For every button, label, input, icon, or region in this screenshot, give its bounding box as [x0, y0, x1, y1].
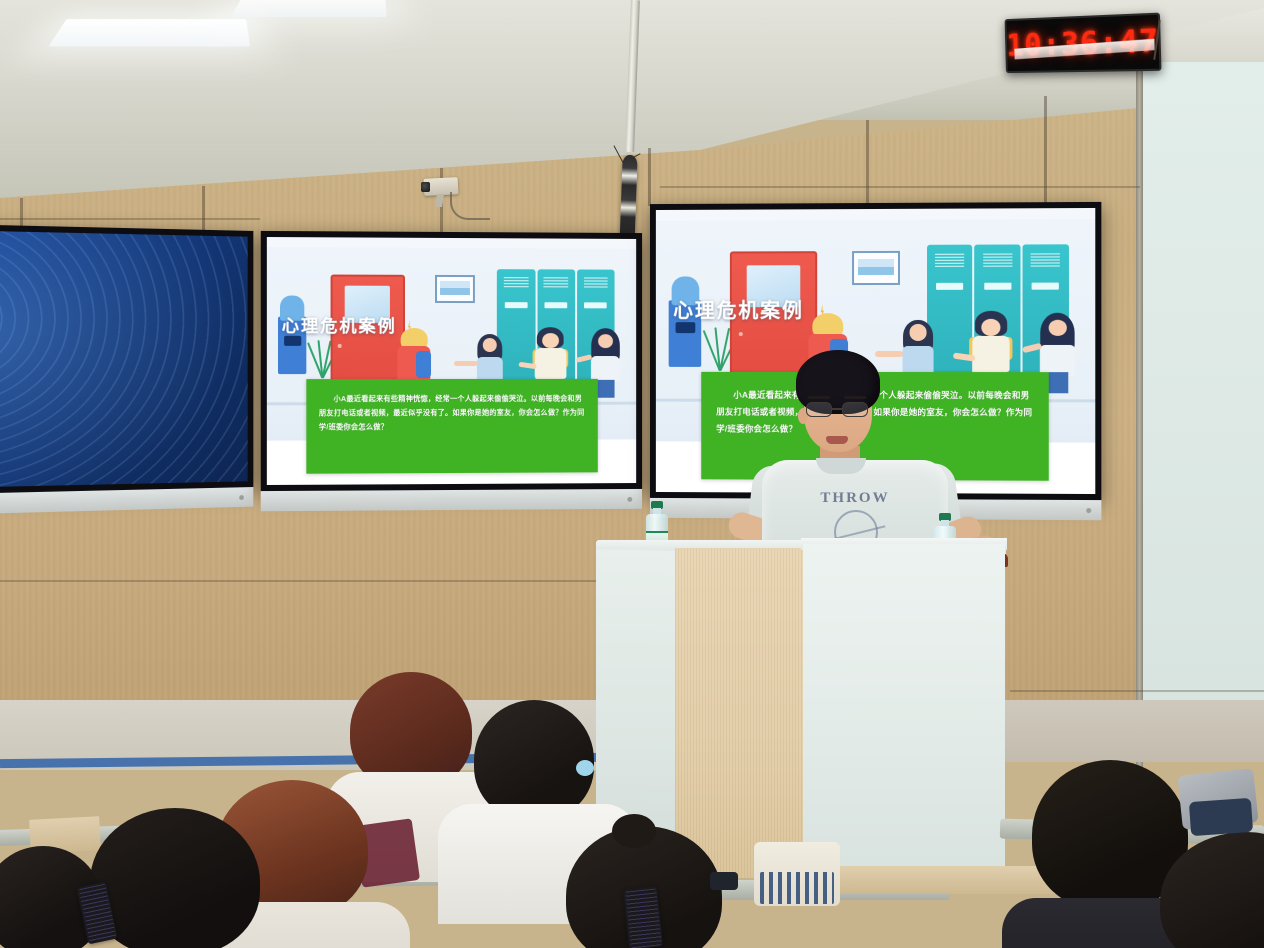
speaker-mouth	[826, 436, 848, 444]
tshirt-print-text: THROW	[800, 490, 910, 507]
presentation-slide: 心理危机案例 小A最近看起来有些精神恍惚，经常一个人躲起来偷偷哭泣。以前每晚会和…	[267, 237, 636, 485]
wall-seam	[0, 218, 260, 220]
hair-bun	[612, 814, 656, 848]
bezel-brand-label	[0, 503, 17, 504]
camera-lens-icon	[421, 182, 430, 192]
student-far-right	[1160, 832, 1264, 948]
display-bezel	[261, 489, 642, 511]
earbud-icon	[576, 760, 594, 776]
ceiling-light-panel-icon	[48, 19, 250, 46]
classroom-scene: 10:36:47	[0, 0, 1264, 948]
phone-on-desk[interactable]	[710, 872, 738, 890]
jacket-on-desk	[1189, 798, 1253, 836]
camera-cable	[450, 192, 490, 220]
ceiling-light-panel-2-icon	[231, 0, 387, 17]
standby-display[interactable]	[0, 225, 253, 493]
slide-display-left[interactable]: 心理危机案例 小A最近看起来有些精神恍惚，经常一个人躲起来偷偷哭泣。以前每晚会和…	[261, 231, 642, 491]
slide-case-text: 小A最近看起来有些精神恍惚，经常一个人躲起来偷偷哭泣。以前每晚会和男朋友打电话或…	[319, 392, 586, 435]
wall-corner-edge	[1136, 70, 1143, 770]
blue-wave-wallpaper	[0, 231, 248, 487]
potted-plant-icon	[708, 327, 730, 371]
wall-seam	[1010, 690, 1264, 692]
eyeglasses-icon	[804, 402, 872, 417]
wall-seam	[866, 120, 869, 206]
backpack-icon	[416, 351, 431, 379]
potted-plant-icon	[312, 340, 331, 379]
bag-print	[760, 872, 834, 904]
wall-seam	[660, 186, 1140, 188]
bezel-indicator-icon	[1086, 508, 1091, 513]
door-knob-icon	[738, 332, 742, 336]
bezel-indicator-icon	[239, 495, 244, 500]
side-wall-white	[1142, 62, 1264, 762]
lectern-panel-right	[803, 544, 1005, 880]
standby-screen	[0, 231, 248, 487]
wall-picture-icon	[435, 275, 476, 304]
smartphone[interactable]	[623, 886, 663, 948]
door-knob-icon	[338, 344, 342, 348]
phone-screen	[625, 888, 662, 948]
water-cooler-tap-icon	[676, 322, 696, 333]
speaker-eyebrow	[844, 396, 866, 399]
tote-bag	[754, 842, 840, 906]
wall-seam	[0, 580, 600, 582]
wall-picture-icon	[852, 251, 900, 284]
wall-seam	[1044, 96, 1047, 212]
slide-screen-left: 心理危机案例 小A最近看起来有些精神恍惚，经常一个人躲起来偷偷哭泣。以前每晚会和…	[267, 237, 636, 485]
water-cooler-tap-icon	[284, 336, 301, 346]
slide-title: 心理危机案例	[673, 294, 804, 323]
wall-seam	[648, 148, 651, 206]
speaker-eyebrow	[808, 396, 830, 399]
slide-title: 心理危机案例	[282, 311, 397, 336]
led-wall-clock: 10:36:47	[1005, 13, 1162, 74]
slide-case-textbox: 小A最近看起来有些精神恍惚，经常一个人躲起来偷偷哭泣。以前每晚会和男朋友打电话或…	[306, 379, 598, 473]
bezel-indicator-icon	[627, 496, 632, 501]
